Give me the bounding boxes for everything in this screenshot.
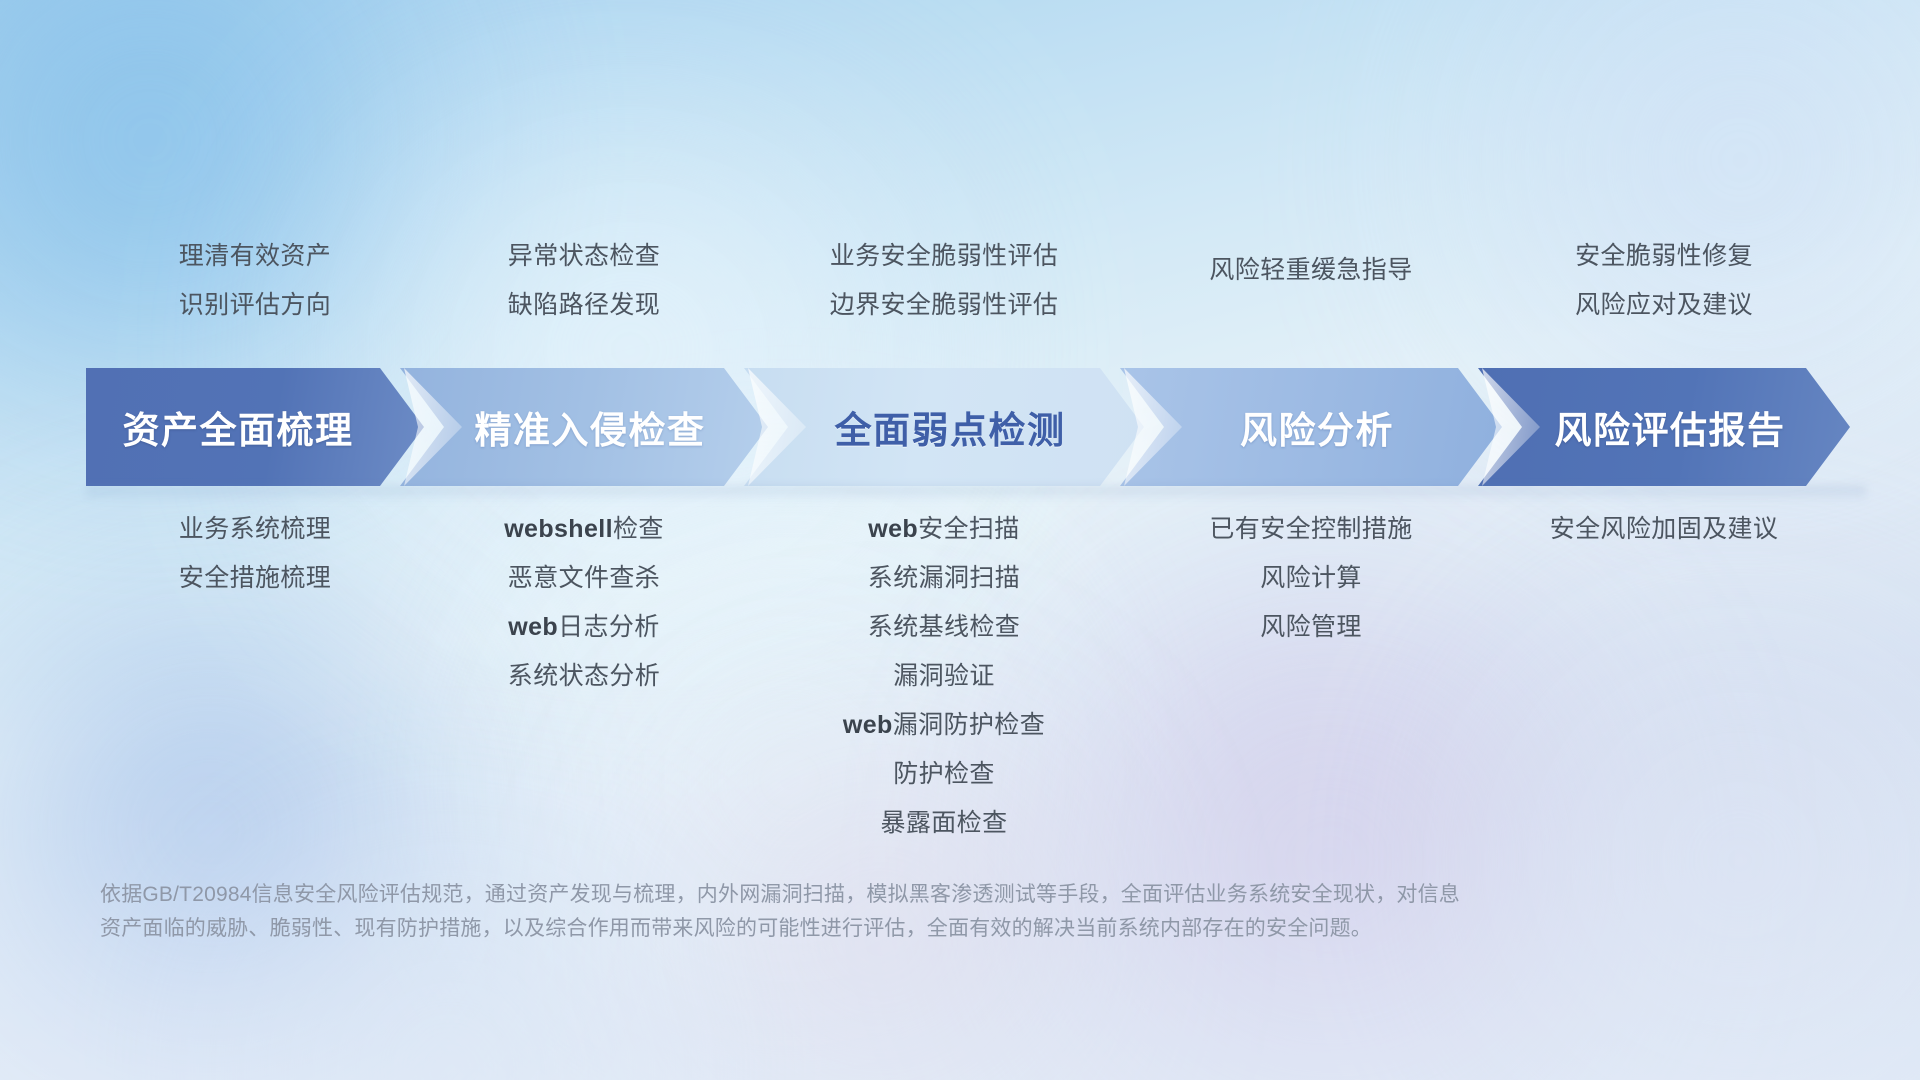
process-chevron-band: 资产全面梳理 精准入侵检查 全面弱点检测 风险分析 风险评估报告 [0,368,1920,488]
step-bottom-item-text: 日志分析 [558,613,660,641]
step-bottom-item: 已有安全控制措施 [1120,505,1502,554]
process-step-label: 精准入侵检查 [400,400,768,454]
step-top-item: 缺陷路径发现 [400,281,768,330]
step-bottom-item-text: 恶意文件查杀 [508,564,660,592]
step-bottom-item-text: 漏洞验证 [893,662,995,690]
footer-line-2: 资产面临的威胁、脆弱性、现有防护措施，以及综合作用而带来风险的可能性进行评估，全… [100,912,1740,946]
step-top-item: 识别评估方向 [86,281,424,330]
footer-description: 依据GB/T20984信息安全风险评估规范，通过资产发现与梳理，内外网漏洞扫描，… [100,878,1740,946]
step-bottom-item-latin: webshell [504,515,613,543]
step-bottom-item-text: 安全扫描 [918,515,1020,543]
footer-line-1: 依据GB/T20984信息安全风险评估规范，通过资产发现与梳理，内外网漏洞扫描，… [100,878,1740,912]
step-top-item: 风险应对及建议 [1478,281,1850,330]
step-bottom-item: webshell检查 [400,505,768,554]
step-bottom-item-text: 检查 [613,515,664,543]
process-step-4[interactable]: 风险评估报告 [1478,368,1850,486]
step-bottom-items-0: 业务系统梳理 安全措施梳理 [86,505,424,603]
step-top-item: 业务安全脆弱性评估 [744,232,1144,281]
step-bottom-item-latin: web [508,613,558,641]
step-bottom-item: 漏洞验证 [744,652,1144,701]
step-bottom-item: 安全措施梳理 [86,554,424,603]
process-step-label: 风险评估报告 [1478,400,1850,454]
process-step-label: 全面弱点检测 [744,400,1144,454]
step-bottom-item-latin: web [868,515,918,543]
step-top-item: 安全脆弱性修复 [1478,232,1850,281]
step-bottom-item-latin: web [843,711,893,739]
step-bottom-items-3: 已有安全控制措施 风险计算 风险管理 [1120,505,1502,652]
step-bottom-items-4: 安全风险加固及建议 [1478,505,1850,554]
step-top-item: 异常状态检查 [400,232,768,281]
step-bottom-item-text: 系统状态分析 [508,662,660,690]
chevron-band-shadow [86,486,1866,502]
step-top-item: 边界安全脆弱性评估 [744,281,1144,330]
step-bottom-item-text: 暴露面检查 [880,809,1007,837]
step-bottom-item: 暴露面检查 [744,799,1144,848]
step-bottom-item: 业务系统梳理 [86,505,424,554]
step-bottom-item-text: 防护检查 [893,760,995,788]
step-bottom-item: 系统基线检查 [744,603,1144,652]
step-top-items-1: 异常状态检查 缺陷路径发现 [400,232,768,330]
step-top-item: 风险轻重缓急指导 [1120,246,1502,295]
step-top-items-3: 风险轻重缓急指导 [1120,246,1502,295]
step-bottom-item: 风险计算 [1120,554,1502,603]
step-bottom-item: 风险管理 [1120,603,1502,652]
step-bottom-item: web漏洞防护检查 [744,701,1144,750]
process-step-1[interactable]: 精准入侵检查 [400,368,768,486]
process-step-0[interactable]: 资产全面梳理 [86,368,424,486]
step-top-item: 理清有效资产 [86,232,424,281]
process-diagram: 理清有效资产 识别评估方向 异常状态检查 缺陷路径发现 业务安全脆弱性评估 边界… [0,0,1920,1080]
step-bottom-item: 系统状态分析 [400,652,768,701]
step-bottom-item-text: 系统漏洞扫描 [868,564,1020,592]
process-step-2[interactable]: 全面弱点检测 [744,368,1144,486]
process-step-label: 资产全面梳理 [86,400,424,454]
step-bottom-item: web日志分析 [400,603,768,652]
step-bottom-items-1: webshell检查 恶意文件查杀 web日志分析 系统状态分析 [400,505,768,701]
step-bottom-item: web安全扫描 [744,505,1144,554]
process-step-3[interactable]: 风险分析 [1120,368,1502,486]
step-bottom-item: 系统漏洞扫描 [744,554,1144,603]
step-bottom-item-text: 漏洞防护检查 [893,711,1045,739]
step-top-items-0: 理清有效资产 识别评估方向 [86,232,424,330]
step-top-items-2: 业务安全脆弱性评估 边界安全脆弱性评估 [744,232,1144,330]
step-top-items-4: 安全脆弱性修复 风险应对及建议 [1478,232,1850,330]
step-bottom-item: 安全风险加固及建议 [1478,505,1850,554]
step-bottom-items-2: web安全扫描 系统漏洞扫描 系统基线检查 漏洞验证 web漏洞防护检查 防护检… [744,505,1144,848]
step-bottom-item: 恶意文件查杀 [400,554,768,603]
step-bottom-item: 防护检查 [744,750,1144,799]
process-step-label: 风险分析 [1120,400,1502,454]
step-bottom-item-text: 系统基线检查 [868,613,1020,641]
